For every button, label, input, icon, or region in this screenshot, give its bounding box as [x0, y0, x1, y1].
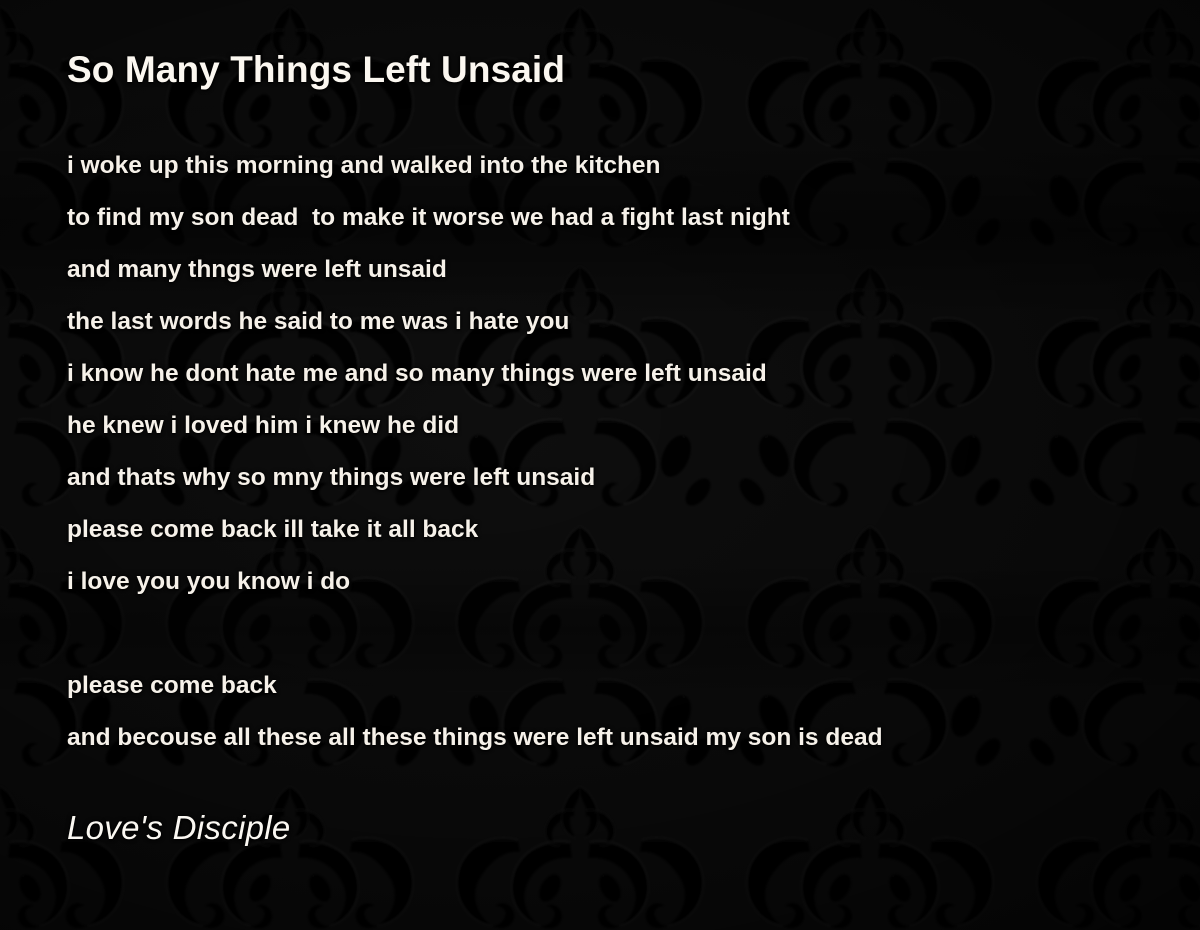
poem-line: please come back: [67, 660, 1140, 712]
poem-line: i know he dont hate me and so many thing…: [67, 348, 1140, 400]
poem-author: Love's Disciple: [67, 809, 1140, 847]
poem-line: and many thngs were left unsaid: [67, 244, 1140, 296]
poem-line: and becouse all these all these things w…: [67, 712, 1140, 764]
poem-line: the last words he said to me was i hate …: [67, 296, 1140, 348]
poem-line: to find my son dead to make it worse we …: [67, 192, 1140, 244]
poem-title: So Many Things Left Unsaid: [67, 50, 1140, 91]
poem-line: and thats why so mny things were left un…: [67, 452, 1140, 504]
poem-line: please come back ill take it all back: [67, 504, 1140, 556]
poem-line: i woke up this morning and walked into t…: [67, 140, 1140, 192]
poem-content: So Many Things Left Unsaid i woke up thi…: [0, 0, 1200, 930]
poem-image-card: So Many Things Left Unsaid i woke up thi…: [0, 0, 1200, 930]
poem-line-blank: [67, 608, 1140, 660]
poem-body: i woke up this morning and walked into t…: [67, 140, 1140, 764]
poem-line: i love you you know i do: [67, 556, 1140, 608]
poem-line: he knew i loved him i knew he did: [67, 400, 1140, 452]
